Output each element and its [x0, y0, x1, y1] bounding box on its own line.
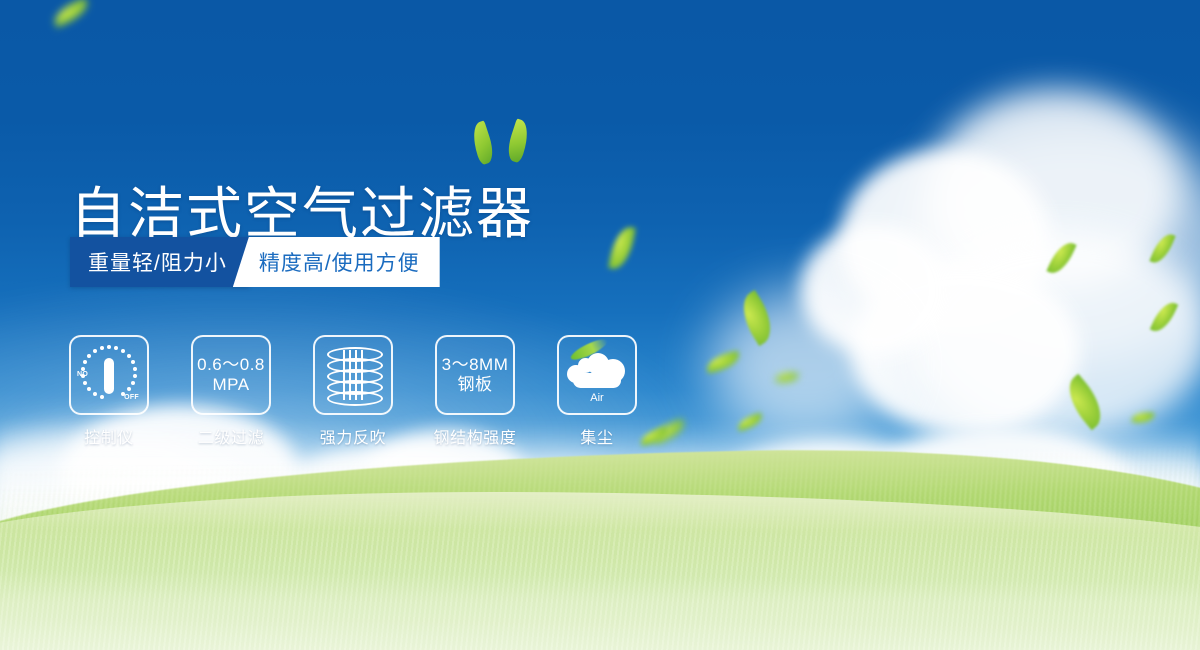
feature-item-control-panel[interactable]: NO OFF 控制仪: [70, 335, 148, 448]
feature-icon-box: NO OFF: [69, 335, 149, 415]
feature-icon-box: 0.6〜0.8 MPA: [191, 335, 271, 415]
feature-label: 二级过滤: [198, 424, 264, 448]
pressure-text-icon: 0.6〜0.8 MPA: [197, 355, 265, 395]
icon-text-line1: 3〜8MM: [442, 355, 509, 374]
sprout-leaf-right: [504, 118, 533, 163]
feature-icon-box: [313, 335, 393, 415]
feature-list: NO OFF 控制仪 0.6〜0.8 MPA 二级过滤: [70, 335, 636, 448]
icon-text-line2: 钢板: [442, 375, 509, 395]
page-title: 自洁式空气过滤器: [70, 186, 534, 242]
subtitle-badge: 重量轻/阻力小 精度高/使用方便: [70, 237, 440, 287]
sprout-leaf-left: [468, 120, 497, 165]
feature-label: 控制仪: [84, 424, 134, 448]
grass-highlight: [0, 530, 1200, 650]
feature-item-dust-collection[interactable]: Air 集尘: [558, 335, 636, 448]
gauge-off-label: OFF: [124, 394, 139, 401]
feature-label: 强力反吹: [320, 424, 386, 448]
badge-left-segment: 重量轻/阻力小: [70, 237, 249, 287]
product-banner: 自洁式空气过滤器 重量轻/阻力小 精度高/使用方便: [0, 0, 1200, 650]
icon-text-line1: 0.6〜0.8: [197, 355, 265, 374]
feature-item-two-stage-filter[interactable]: 0.6〜0.8 MPA 二级过滤: [192, 335, 270, 448]
feature-item-strong-blowback[interactable]: 强力反吹: [314, 335, 392, 448]
air-cloud-icon: Air: [567, 349, 627, 401]
steel-plate-text-icon: 3〜8MM 钢板: [442, 355, 509, 395]
feature-icon-box: 3〜8MM 钢板: [435, 335, 515, 415]
icon-text-line2: MPA: [197, 375, 265, 395]
gauge-no-label: NO: [77, 371, 88, 378]
cloud-base: [573, 373, 621, 388]
badge-right-segment: 精度高/使用方便: [233, 237, 440, 287]
air-label: Air: [567, 392, 627, 404]
feature-label: 集尘: [580, 424, 613, 448]
gauge-needle: [104, 358, 114, 394]
feature-icon-box: Air: [557, 335, 637, 415]
feature-item-steel-strength[interactable]: 3〜8MM 钢板 钢结构强度: [436, 335, 514, 448]
filter-coil-icon: [327, 347, 379, 403]
dial-gauge-icon: NO OFF: [78, 344, 140, 406]
leaf-sprout-icon: [470, 110, 542, 172]
feature-label: 钢结构强度: [434, 424, 517, 448]
